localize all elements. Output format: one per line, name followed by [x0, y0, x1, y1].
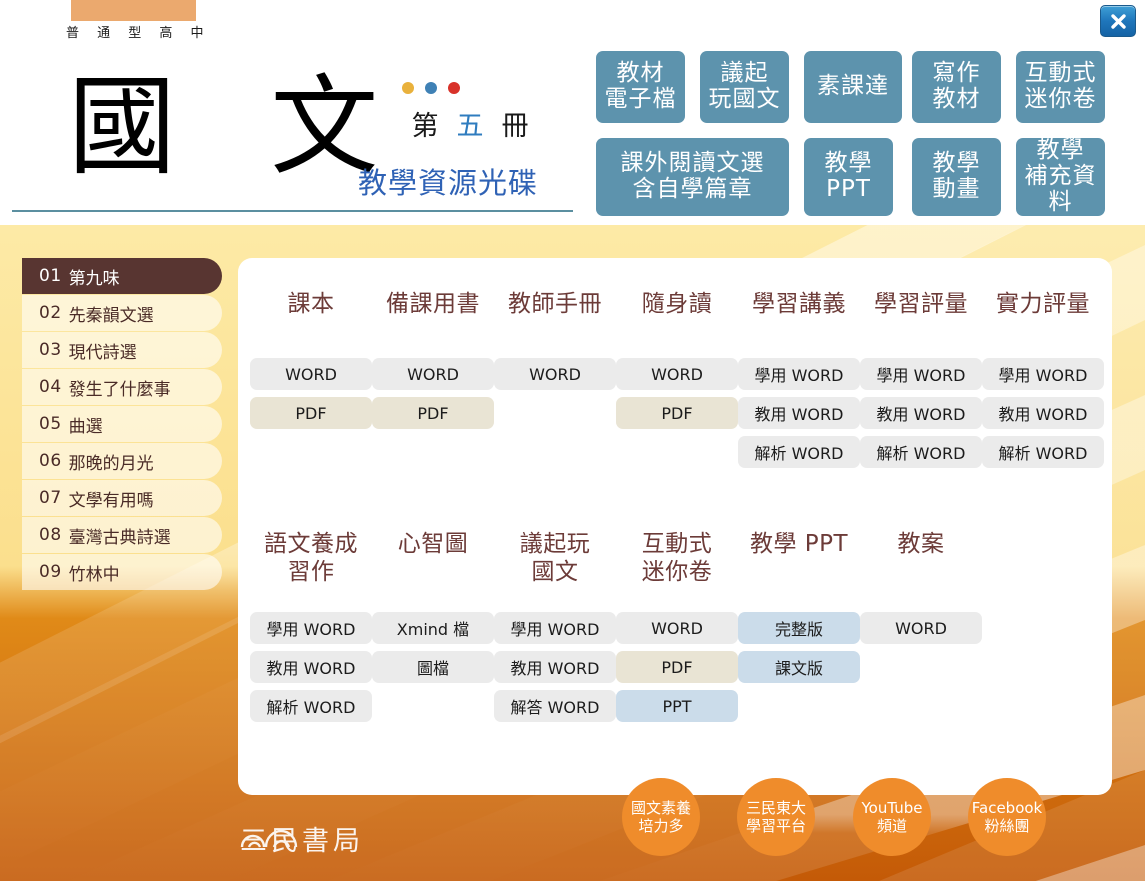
- resource-column: 學習評量學用 WORD教用 WORD解析 WORD: [860, 290, 982, 475]
- footer-circle-link[interactable]: YouTube 頻道: [853, 778, 931, 856]
- volume-prefix: 第: [412, 111, 439, 142]
- nav-button[interactable]: 教材 電子檔: [596, 51, 685, 123]
- resource-file-button[interactable]: 解析 WORD: [738, 436, 860, 468]
- resource-column: 議起玩 國文學用 WORD教用 WORD解答 WORD: [494, 530, 616, 729]
- dot-red-icon: [448, 82, 460, 94]
- footer-circle-link[interactable]: Facebook 粉絲團: [968, 778, 1046, 856]
- sidebar-item-chapter-05[interactable]: 05曲選: [22, 406, 222, 442]
- resource-file-button[interactable]: 教用 WORD: [494, 651, 616, 683]
- nav-button[interactable]: 議起 玩國文: [700, 51, 789, 123]
- resource-file-button[interactable]: 教用 WORD: [982, 397, 1104, 429]
- nav-button[interactable]: 教學 PPT: [804, 138, 893, 216]
- sidebar-item-label: 第九味: [69, 264, 120, 289]
- resource-column-title: 教師手冊: [494, 290, 616, 348]
- resource-panel: 課本WORDPDF備課用書WORDPDF教師手冊WORD隨身讀WORDPDF學習…: [238, 258, 1112, 795]
- resource-file-button[interactable]: 教用 WORD: [860, 397, 982, 429]
- resource-file-button[interactable]: 學用 WORD: [860, 358, 982, 390]
- resource-file-button[interactable]: PDF: [250, 397, 372, 429]
- resource-file-button[interactable]: WORD: [494, 358, 616, 390]
- close-icon: [1110, 13, 1127, 30]
- sidebar-item-number: 05: [39, 414, 62, 434]
- decorative-dots: [402, 82, 462, 96]
- resource-file-button[interactable]: WORD: [250, 358, 372, 390]
- resource-file-button[interactable]: PDF: [372, 397, 494, 429]
- resource-file-button[interactable]: 解析 WORD: [860, 436, 982, 468]
- resource-column-title: 實力評量: [982, 290, 1104, 348]
- resource-column-title: 備課用書: [372, 290, 494, 348]
- content-stage: 01第九味02先秦韻文選03現代詩選04發生了什麼事05曲選06那晚的月光07文…: [0, 225, 1145, 881]
- resource-file-button[interactable]: PDF: [616, 397, 738, 429]
- footer-circle-link[interactable]: 國文素養 培力多: [622, 778, 700, 856]
- sidebar-item-label: 曲選: [69, 412, 103, 437]
- sidebar-item-label: 竹林中: [69, 560, 120, 585]
- nav-button[interactable]: 互動式 迷你卷: [1016, 51, 1105, 123]
- resource-column-title: 教學 PPT: [738, 530, 860, 602]
- resource-file-button[interactable]: 學用 WORD: [982, 358, 1104, 390]
- series-tab-label: 普 通 型 高 中: [66, 22, 202, 41]
- nav-button[interactable]: 素課達: [804, 51, 902, 123]
- page-subtitle: 教學資源光碟: [358, 160, 538, 202]
- resource-column-title: 議起玩 國文: [494, 530, 616, 602]
- resource-column-title: 課本: [250, 290, 372, 348]
- resource-file-button[interactable]: PDF: [616, 651, 738, 683]
- sidebar-item-chapter-06[interactable]: 06那晚的月光: [22, 443, 222, 479]
- resource-column: 心智圖Xmind 檔圖檔: [372, 530, 494, 690]
- sidebar-item-label: 先秦韻文選: [69, 301, 154, 326]
- sidebar-item-label: 臺灣古典詩選: [69, 523, 171, 548]
- resource-column: 教學 PPT完整版課文版: [738, 530, 860, 690]
- resource-column-title: 學習評量: [860, 290, 982, 348]
- resource-column: 課本WORDPDF: [250, 290, 372, 436]
- resource-file-button[interactable]: 教用 WORD: [250, 651, 372, 683]
- sidebar-item-chapter-07[interactable]: 07文學有用嗎: [22, 480, 222, 516]
- sidebar-item-number: 06: [39, 451, 62, 471]
- close-button[interactable]: [1100, 5, 1136, 37]
- resource-file-button[interactable]: Xmind 檔: [372, 612, 494, 644]
- sidebar-item-chapter-01[interactable]: 01第九味: [22, 258, 222, 294]
- resource-file-button[interactable]: WORD: [860, 612, 982, 644]
- resource-file-button[interactable]: 解答 WORD: [494, 690, 616, 722]
- page-header: 普 通 型 高 中 國 文 第五冊 教學資源光碟 教材 電子檔議起 玩國文素課達…: [0, 0, 1145, 225]
- sidebar-item-number: 07: [39, 488, 62, 508]
- sidebar-item-number: 08: [39, 525, 62, 545]
- resource-file-button[interactable]: 課文版: [738, 651, 860, 683]
- resource-file-button[interactable]: 學用 WORD: [494, 612, 616, 644]
- nav-button[interactable]: 寫作 教材: [912, 51, 1001, 123]
- resource-file-button[interactable]: 教用 WORD: [738, 397, 860, 429]
- resource-column-title: 語文養成 習作: [250, 530, 372, 602]
- resource-column: 教師手冊WORD: [494, 290, 616, 397]
- sidebar-item-label: 那晚的月光: [69, 449, 154, 474]
- resource-column: 實力評量學用 WORD教用 WORD解析 WORD: [982, 290, 1104, 475]
- resource-column: 互動式 迷你卷WORDPDFPPT: [616, 530, 738, 729]
- volume-label: 第五冊: [395, 104, 545, 143]
- sidebar-item-number: 01: [39, 266, 62, 286]
- series-tab: [71, 0, 196, 21]
- resource-file-button[interactable]: 學用 WORD: [738, 358, 860, 390]
- footer-circle-link[interactable]: 三民東大 學習平台: [737, 778, 815, 856]
- resource-file-button[interactable]: 圖檔: [372, 651, 494, 683]
- sidebar-item-number: 09: [39, 562, 62, 582]
- resource-column-title: 隨身讀: [616, 290, 738, 348]
- volume-number: 五: [457, 111, 484, 142]
- chapter-sidebar: 01第九味02先秦韻文選03現代詩選04發生了什麼事05曲選06那晚的月光07文…: [22, 258, 222, 591]
- dot-blue-icon: [425, 82, 437, 94]
- sidebar-item-chapter-03[interactable]: 03現代詩選: [22, 332, 222, 368]
- resource-column-title: 教案: [860, 530, 982, 602]
- resource-file-button[interactable]: 學用 WORD: [250, 612, 372, 644]
- nav-button[interactable]: 教學 補充資料: [1016, 138, 1105, 216]
- resource-column-title: 心智圖: [372, 530, 494, 602]
- sidebar-item-label: 文學有用嗎: [69, 486, 154, 511]
- resource-column-title: 互動式 迷你卷: [616, 530, 738, 602]
- nav-button[interactable]: 課外閱讀文選 含自學篇章: [596, 138, 789, 216]
- sidebar-item-number: 03: [39, 340, 62, 360]
- resource-column: 隨身讀WORDPDF: [616, 290, 738, 436]
- sanmin-arches-icon: [240, 819, 314, 849]
- resource-column-title: 學習講義: [738, 290, 860, 348]
- sidebar-item-number: 04: [39, 377, 62, 397]
- publisher-logo: 三民書局: [240, 819, 364, 858]
- sidebar-item-label: 現代詩選: [69, 338, 137, 363]
- header-divider: [12, 210, 573, 212]
- dot-yellow-icon: [402, 82, 414, 94]
- sidebar-item-chapter-09[interactable]: 09竹林中: [22, 554, 222, 590]
- resource-column: 教案WORD: [860, 530, 982, 651]
- sidebar-item-chapter-02[interactable]: 02先秦韻文選: [22, 295, 222, 331]
- resource-file-button[interactable]: WORD: [616, 358, 738, 390]
- nav-button[interactable]: 教學 動畫: [912, 138, 1001, 216]
- resource-file-button[interactable]: 解析 WORD: [250, 690, 372, 722]
- resource-column: 學習講義學用 WORD教用 WORD解析 WORD: [738, 290, 860, 475]
- sidebar-item-chapter-08[interactable]: 08臺灣古典詩選: [22, 517, 222, 553]
- resource-column: 備課用書WORDPDF: [372, 290, 494, 436]
- sidebar-item-number: 02: [39, 303, 62, 323]
- resource-file-button[interactable]: WORD: [616, 612, 738, 644]
- resource-file-button[interactable]: PPT: [616, 690, 738, 722]
- resource-column: 語文養成 習作學用 WORD教用 WORD解析 WORD: [250, 530, 372, 729]
- resource-file-button[interactable]: WORD: [372, 358, 494, 390]
- sidebar-item-label: 發生了什麼事: [69, 375, 171, 400]
- resource-file-button[interactable]: 解析 WORD: [982, 436, 1104, 468]
- resource-file-button[interactable]: 完整版: [738, 612, 860, 644]
- sidebar-item-chapter-04[interactable]: 04發生了什麼事: [22, 369, 222, 405]
- volume-suffix: 冊: [502, 111, 529, 142]
